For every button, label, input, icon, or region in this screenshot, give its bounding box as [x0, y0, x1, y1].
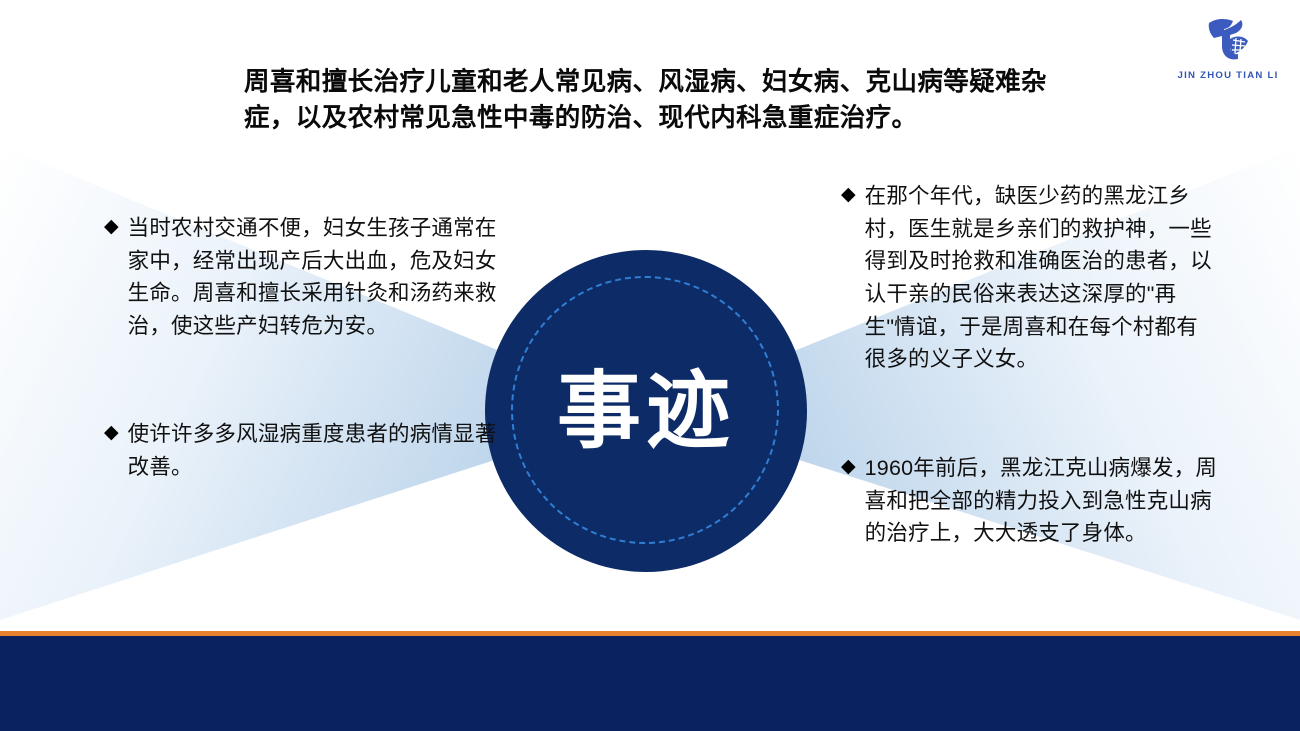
right-column-block-1: ◆ 在那个年代，缺医少药的黑龙江乡村，医生就是乡亲们的救护神，一些得到及时抢救和… [841, 180, 1219, 376]
center-circle: 事迹 [485, 250, 807, 572]
left-column-block-2: ◆ 使许许多多风湿病重度患者的病情显著改善。 [104, 418, 504, 483]
jinzhou-tianli-logo-icon [1200, 14, 1256, 66]
right-column-block-2: ◆ 1960年前后，黑龙江克山病爆发，周喜和把全部的精力投入到急性克山病的治疗上… [841, 452, 1219, 550]
logo-text: JIN ZHOU TIAN LI [1174, 70, 1282, 81]
list-item-text: 在那个年代，缺医少药的黑龙江乡村，医生就是乡亲们的救护神，一些得到及时抢救和准确… [865, 180, 1219, 376]
company-logo: JIN ZHOU TIAN LI [1174, 14, 1282, 81]
list-item-text: 使许许多多风湿病重度患者的病情显著改善。 [128, 418, 504, 483]
diamond-bullet-icon: ◆ [841, 180, 856, 209]
list-item-text: 1960年前后，黑龙江克山病爆发，周喜和把全部的精力投入到急性克山病的治疗上，大… [865, 452, 1219, 550]
list-item: ◆ 当时农村交通不便，妇女生孩子通常在家中，经常出现产后大出血，危及妇女生命。周… [104, 212, 504, 343]
list-item: ◆ 1960年前后，黑龙江克山病爆发，周喜和把全部的精力投入到急性克山病的治疗上… [841, 452, 1219, 550]
list-item: ◆ 使许许多多风湿病重度患者的病情显著改善。 [104, 418, 504, 483]
slide-canvas: 周喜和擅长治疗儿童和老人常见病、风湿病、妇女病、克山病等疑难杂症，以及农村常见急… [0, 0, 1300, 731]
footer-bar [0, 636, 1300, 731]
diamond-bullet-icon: ◆ [841, 452, 856, 481]
diamond-bullet-icon: ◆ [104, 418, 119, 447]
center-circle-label: 事迹 [485, 250, 807, 572]
left-column-block-1: ◆ 当时农村交通不便，妇女生孩子通常在家中，经常出现产后大出血，危及妇女生命。周… [104, 212, 504, 343]
list-item: ◆ 在那个年代，缺医少药的黑龙江乡村，医生就是乡亲们的救护神，一些得到及时抢救和… [841, 180, 1219, 376]
slide-title: 周喜和擅长治疗儿童和老人常见病、风湿病、妇女病、克山病等疑难杂症，以及农村常见急… [244, 64, 1054, 136]
diamond-bullet-icon: ◆ [104, 212, 119, 241]
list-item-text: 当时农村交通不便，妇女生孩子通常在家中，经常出现产后大出血，危及妇女生命。周喜和… [128, 212, 504, 343]
